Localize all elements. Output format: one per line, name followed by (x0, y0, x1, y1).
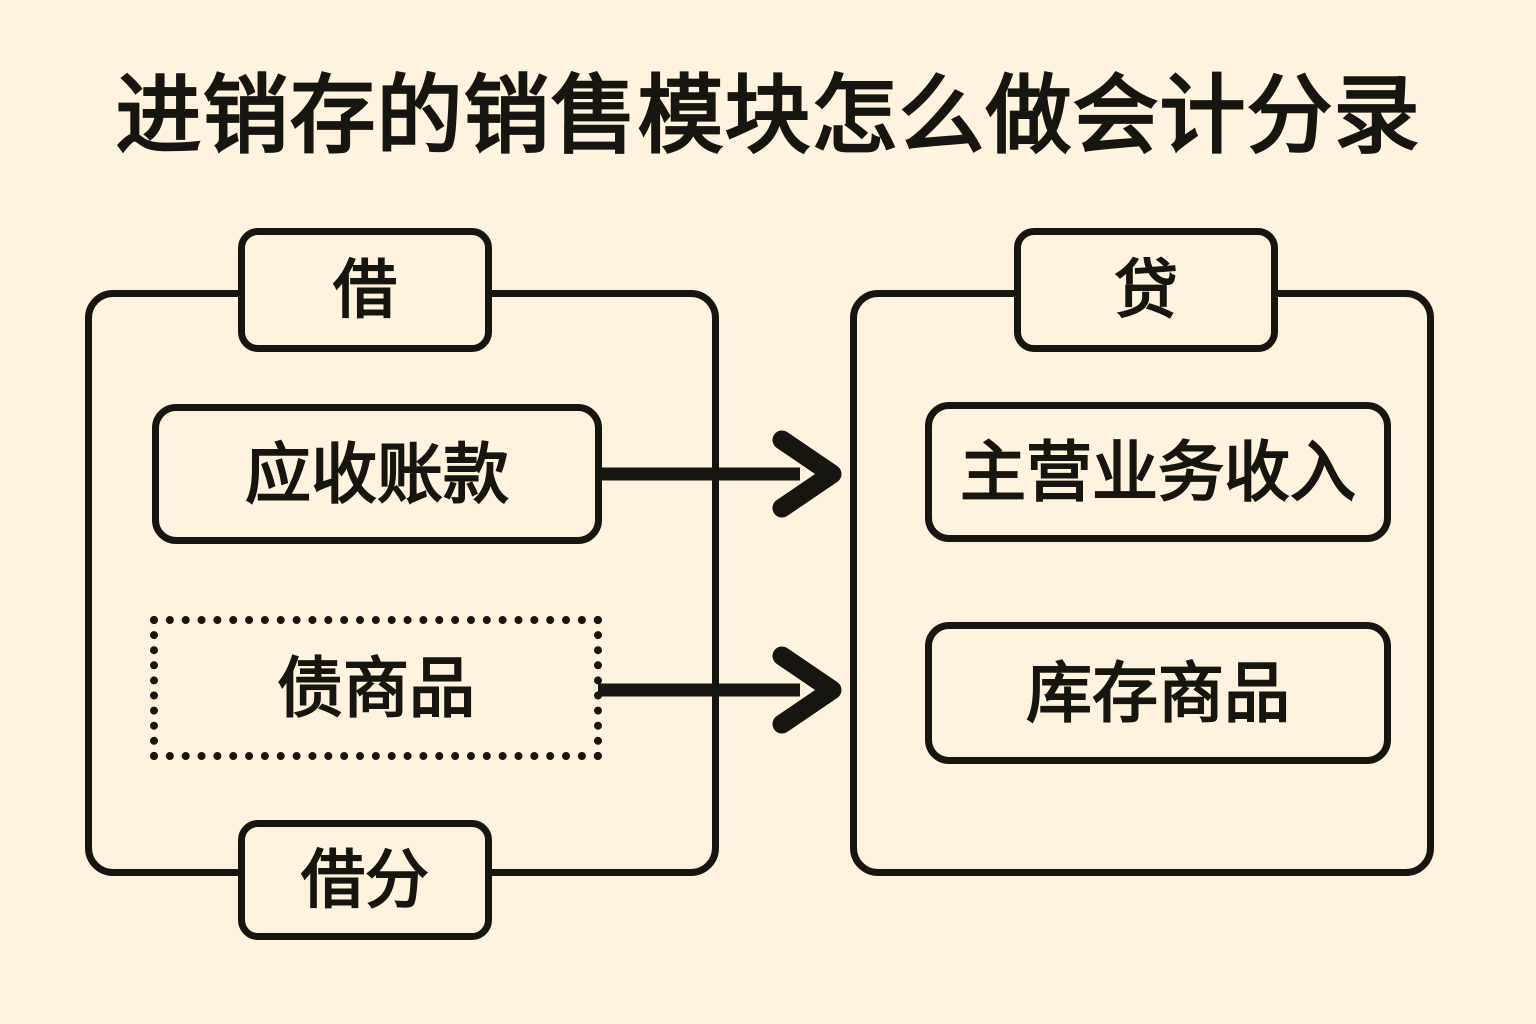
debit-group-panel (85, 290, 719, 876)
credit-account-box-main-operating-revenue[interactable]: 主营业务收入 (925, 402, 1391, 542)
credit-group-header-label: 贷 (1014, 228, 1278, 352)
debit-account-box-accounts-receivable[interactable]: 应收账款 (152, 404, 602, 544)
debit-account-box-goods[interactable]: 债商品 (150, 616, 602, 760)
debit-group-footer-label: 借分 (238, 820, 492, 940)
diagram-canvas: 进销存的销售模块怎么做会计分录 借 应收账款 债商品 借分 贷 主营业务收入 库… (0, 0, 1536, 1024)
page-title: 进销存的销售模块怎么做会计分录 (0, 62, 1536, 170)
credit-account-box-inventory-goods[interactable]: 库存商品 (925, 622, 1391, 764)
credit-group-panel (850, 290, 1434, 876)
debit-group-header-label: 借 (238, 228, 492, 352)
